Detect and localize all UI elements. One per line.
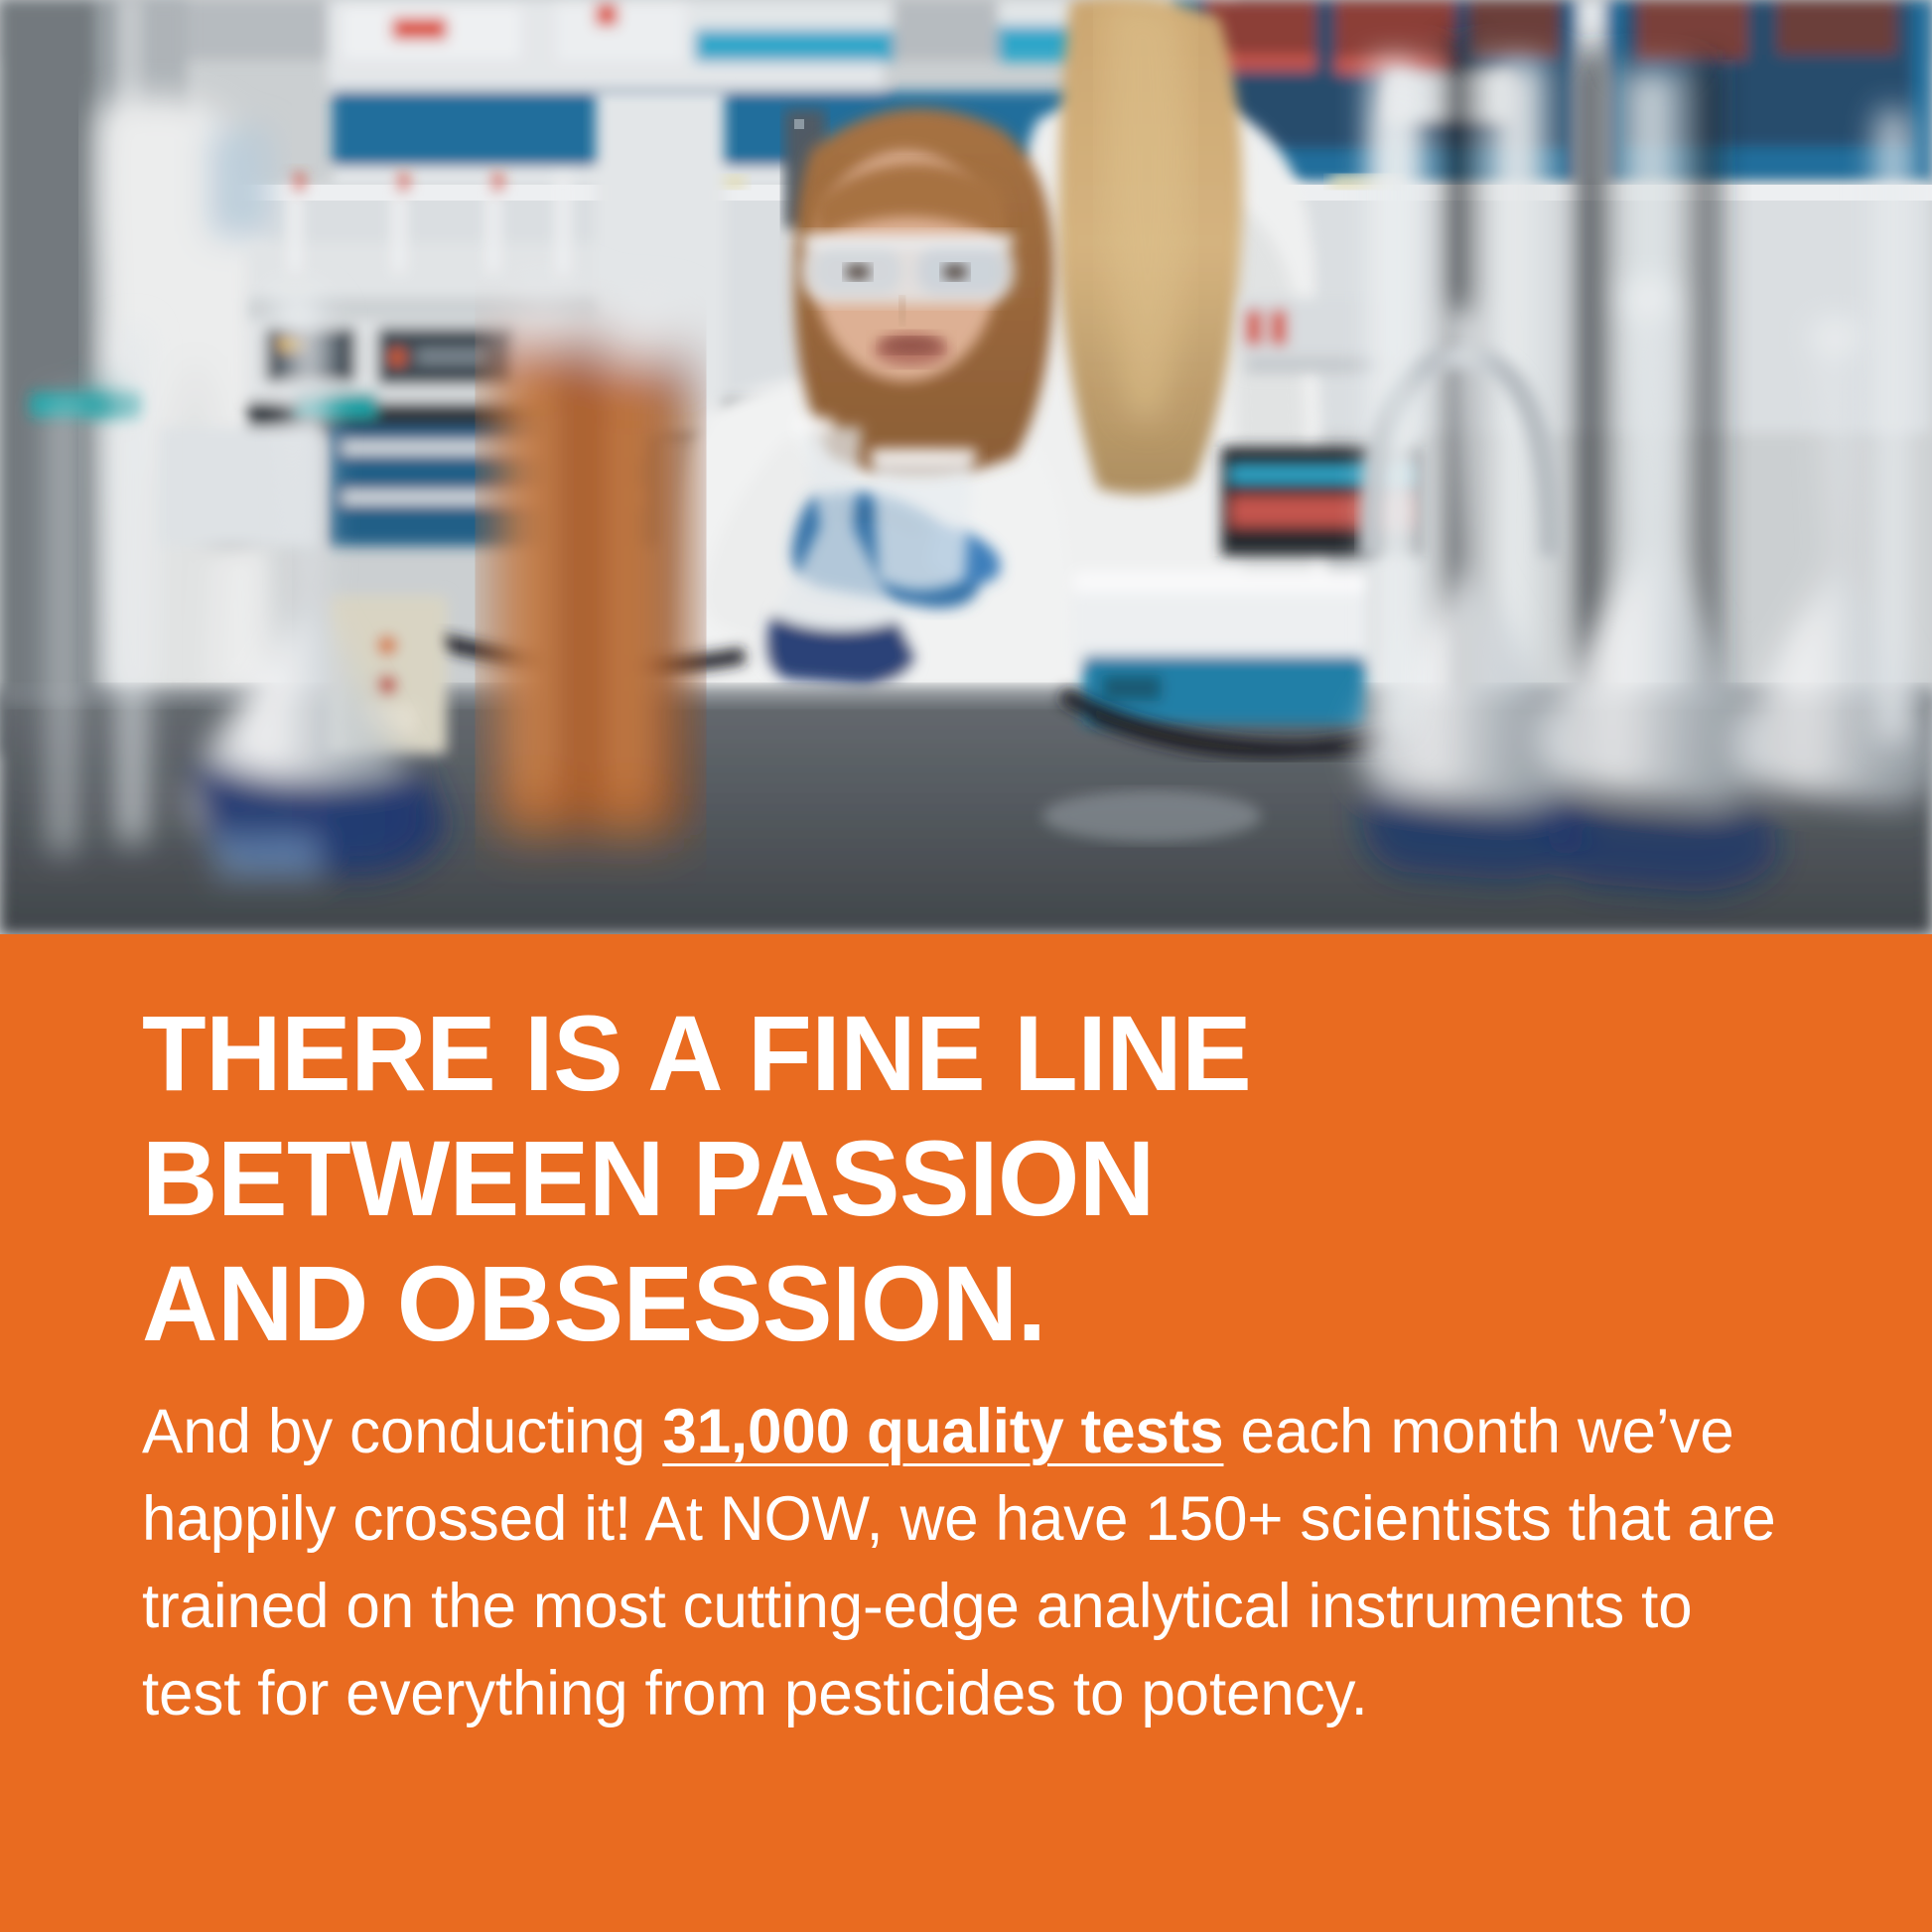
headline-line-3: AND OBSESSION. bbox=[142, 1241, 1699, 1366]
body-paragraph: And by conducting 31,000 quality tests e… bbox=[142, 1388, 1805, 1737]
quality-tests-emphasis: 31,000 quality tests bbox=[662, 1397, 1223, 1466]
poster-root: 500 bbox=[0, 0, 1932, 1932]
lab-photo-illustration: 500 bbox=[0, 0, 1932, 934]
body-text-before: And by conducting bbox=[142, 1397, 662, 1466]
headline-line-2: BETWEEN PASSION bbox=[142, 1116, 1699, 1241]
headline-line-1: THERE IS A FINE LINE bbox=[142, 991, 1699, 1116]
page-title: THERE IS A FINE LINE BETWEEN PASSION AND… bbox=[142, 991, 1699, 1366]
lab-photo: 500 bbox=[0, 0, 1932, 934]
